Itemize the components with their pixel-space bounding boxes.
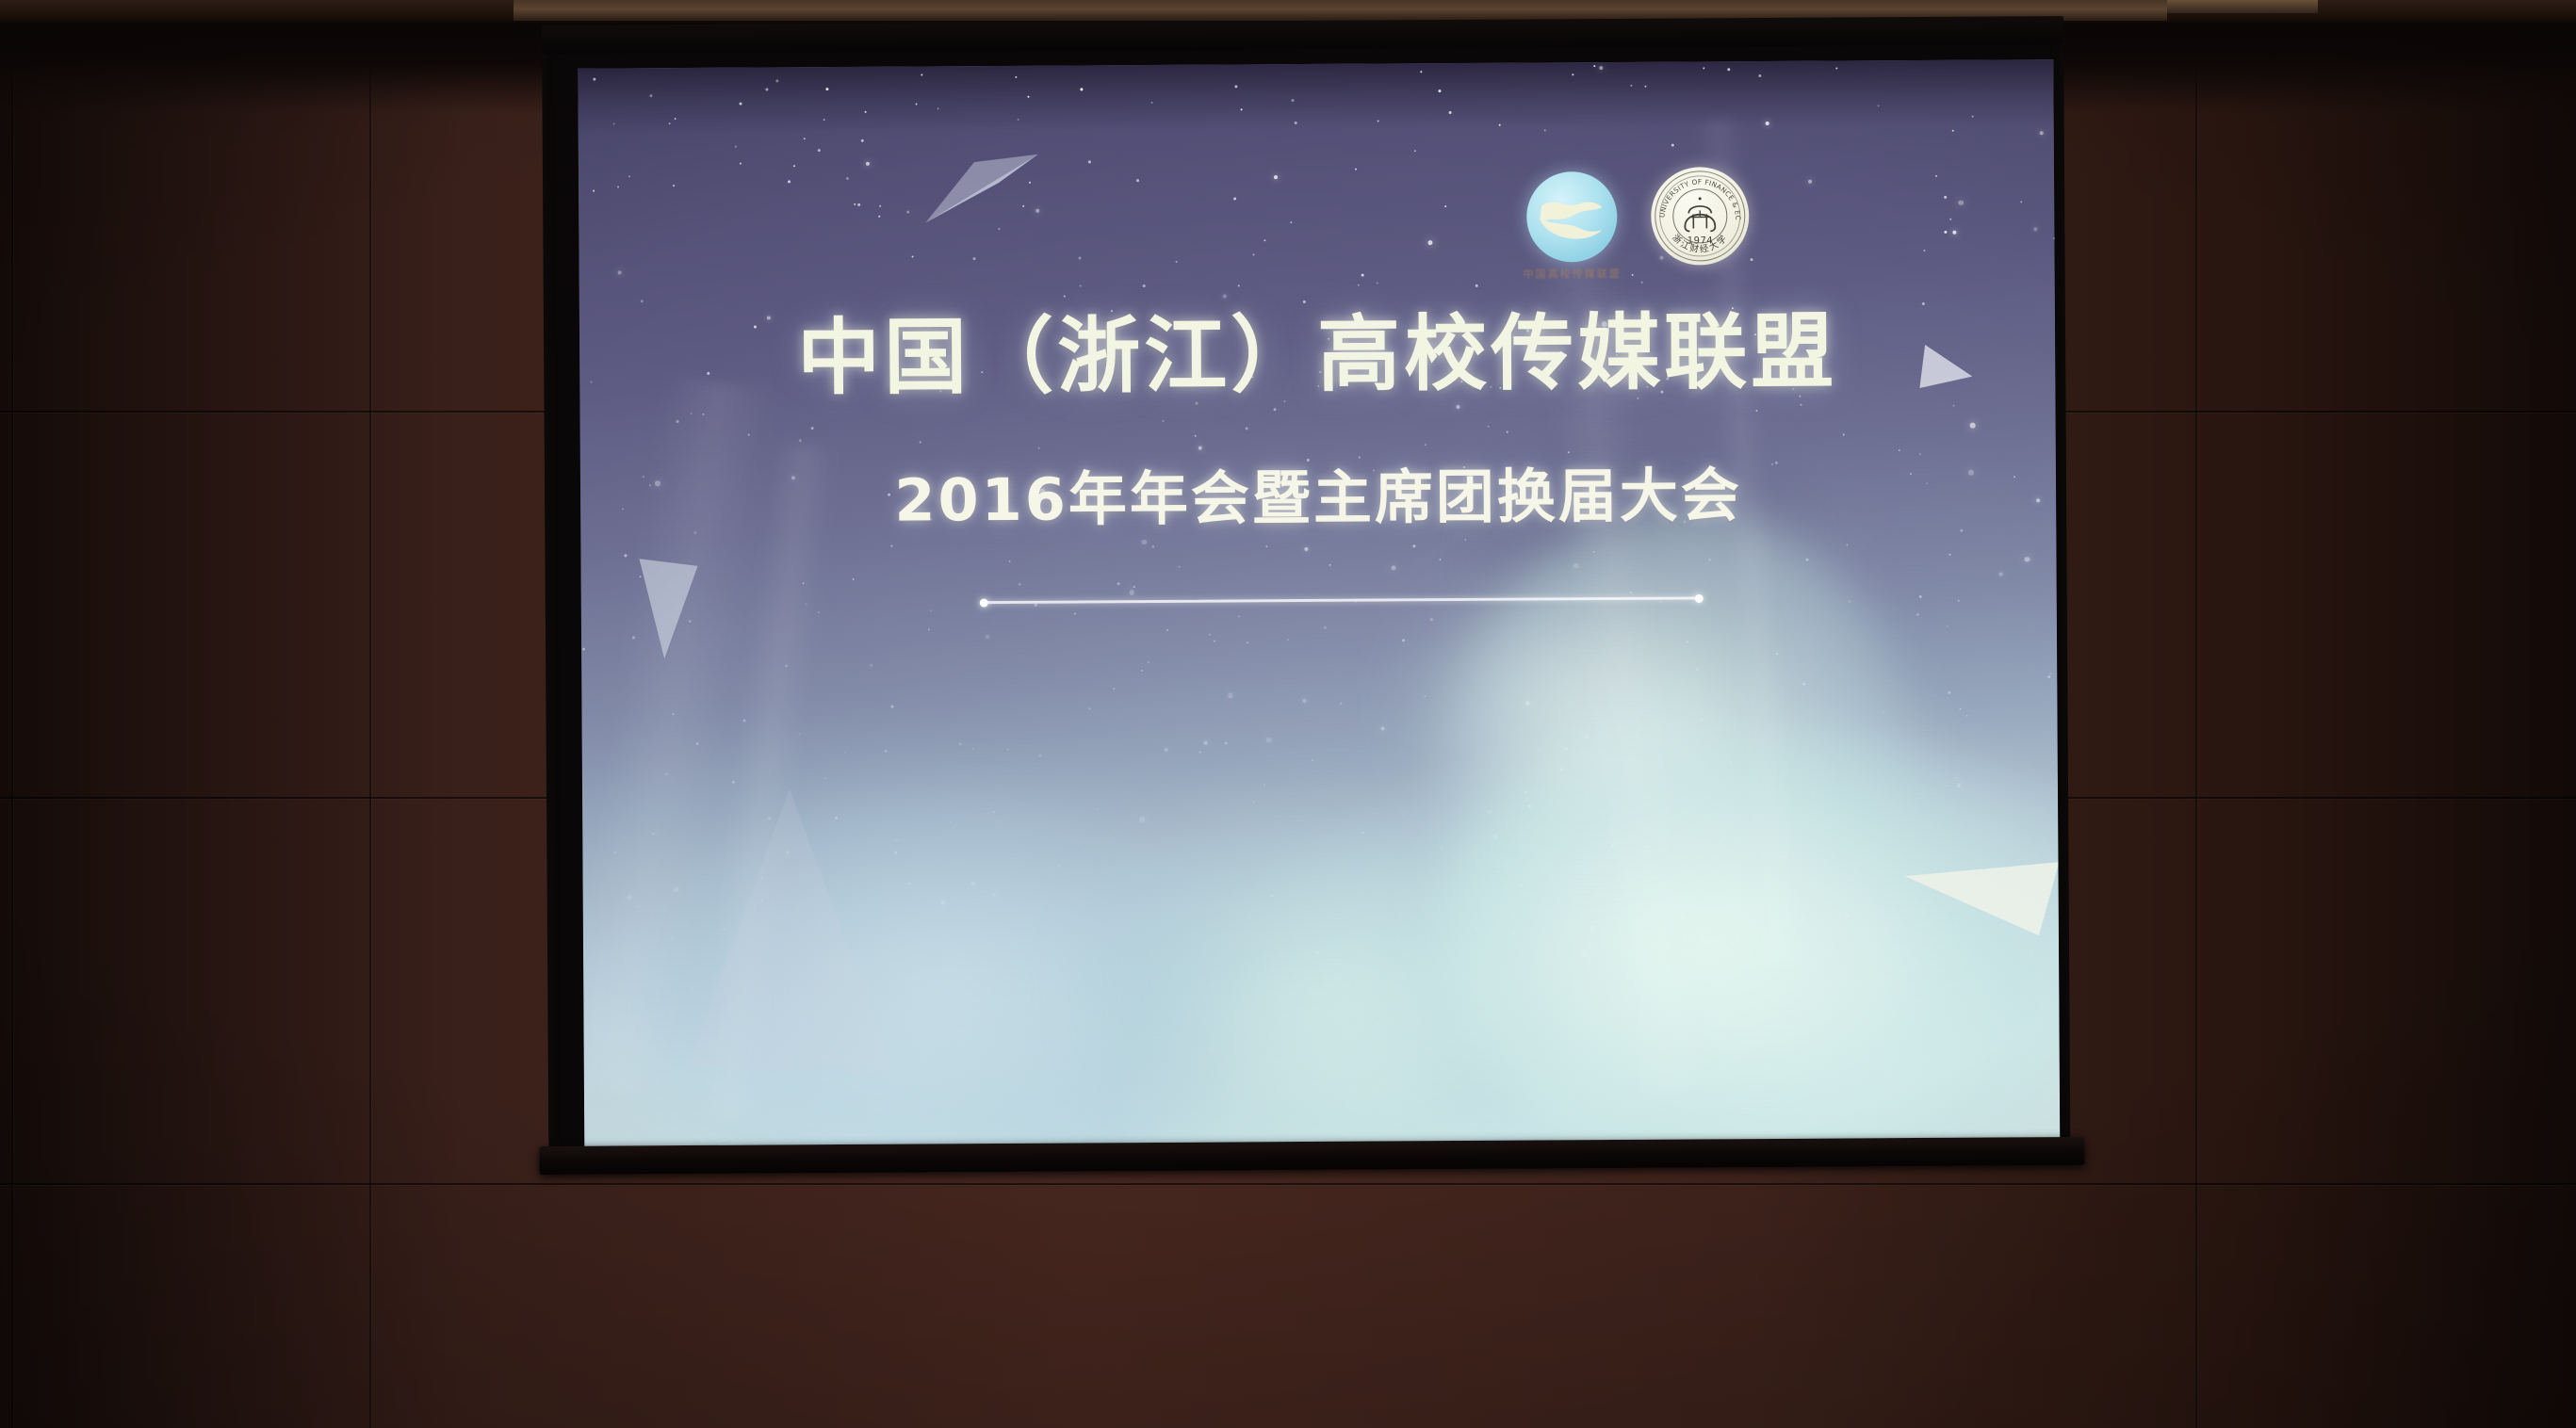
triangle-left-middle-icon [635,553,711,664]
divider-cap-right [1695,593,1704,602]
ceiling-valance-right [2167,0,2318,13]
screen-surface: 中国高校传媒联盟 ZHEJIANG UNIVER [578,59,2060,1154]
triangle-bottom-right-icon [1897,813,2060,955]
divider-cap-left [980,598,988,607]
presentation-slide: 中国高校传媒联盟 ZHEJIANG UNIVER [578,59,2060,1154]
slide-main-title: 中国（浙江）高校传媒联盟 [579,284,2056,413]
wave-icon [1536,192,1607,243]
conference-room: 中国高校传媒联盟 ZHEJIANG UNIVER [0,0,2576,1428]
logo-caption: 中国高校传媒联盟 [1524,266,1622,282]
seal-year: 1974 [1651,235,1749,247]
zhejiang-university-of-finance-economics-seal: ZHEJIANG UNIVERSITY OF FINANCE & ECONOMI… [1651,167,1750,266]
logo-row: 中国高校传媒联盟 ZHEJIANG UNIVER [1526,167,1750,266]
projection-screen-assembly: 中国高校传媒联盟 ZHEJIANG UNIVER [542,16,2070,1184]
slide-main-title-block: 中国（浙江）高校传媒联盟 [579,284,2056,413]
china-college-media-union-logo: 中国高校传媒联盟 [1526,171,1618,263]
slide-sub-title-block: 2016年年会暨主席团换届大会 [580,446,2057,540]
screen-frame: 中国高校传媒联盟 ZHEJIANG UNIVER [555,44,2056,1158]
slide-sub-title: 2016年年会暨主席团换届大会 [580,446,2057,540]
triangle-bottom-left-icon [677,783,914,1086]
comet-triangle-upper-left-icon [918,139,1051,230]
